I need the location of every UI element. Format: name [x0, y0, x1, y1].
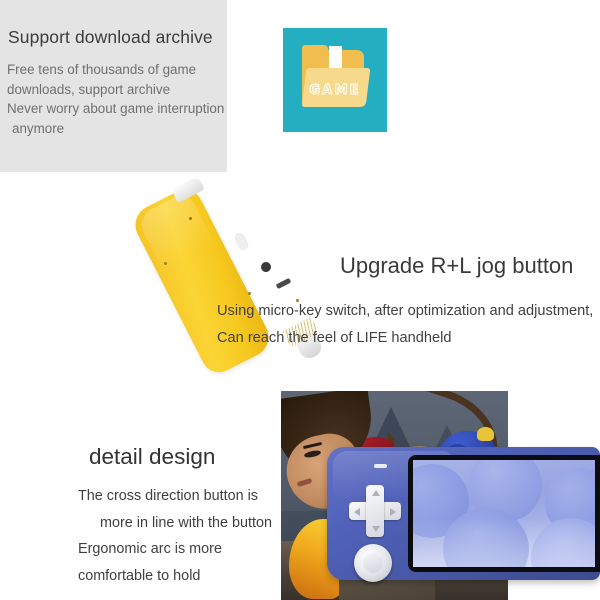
screen-gloss [413, 518, 595, 567]
console-screen [413, 460, 595, 567]
download-archive-body: Free tens of thousands of game downloads… [7, 60, 232, 138]
dpad-up-arrow-icon [372, 490, 380, 496]
dpad-right-arrow-icon [390, 508, 396, 516]
product-feature-image: Support download archive Free tens of th… [0, 0, 600, 600]
download-folder-icon: GAME [283, 28, 387, 132]
download-archive-title: Support download archive [8, 27, 213, 48]
dpad-left-arrow-icon [354, 508, 360, 516]
detail-design-line-3: Ergonomic arc is more [78, 536, 293, 563]
jog-button-line-2: Can reach the feel of LIFE handheld [217, 325, 593, 352]
usb-port [276, 278, 292, 289]
dpad-icon [349, 485, 401, 537]
jog-button-line-1: Using micro-key switch, after optimizati… [217, 298, 593, 325]
download-archive-line-4: anymore [7, 119, 232, 139]
detail-design-title: detail design [89, 444, 215, 470]
jog-button-title: Upgrade R+L jog button [340, 253, 573, 279]
console-screen-bezel [408, 455, 600, 572]
detail-design-line-4: comfortable to hold [78, 563, 293, 590]
blue-console-photo [327, 447, 600, 580]
download-archive-line-2: downloads, support archive [7, 80, 232, 100]
side-power-button [234, 232, 250, 251]
speaker-slot [374, 464, 387, 468]
detail-design-body: The cross direction button is more in li… [78, 483, 293, 589]
download-archive-line-1: Free tens of thousands of game [7, 60, 232, 80]
detail-design-line-2: more in line with the button [78, 510, 293, 537]
artwork-helmet-crest [477, 427, 494, 441]
folder-graphic: GAME [302, 50, 368, 108]
download-archive-line-3: Never worry about game interruption [7, 99, 232, 119]
game-label: GAME [302, 83, 368, 98]
dpad-down-arrow-icon [372, 526, 380, 532]
detail-design-line-1: The cross direction button is [78, 483, 293, 510]
analog-stick [354, 544, 392, 582]
screw-dot [189, 217, 192, 220]
screw-dot [164, 262, 167, 265]
jog-button-body: Using micro-key switch, after optimizati… [217, 298, 593, 352]
screw-dot [248, 292, 251, 295]
headphone-port [259, 260, 272, 273]
